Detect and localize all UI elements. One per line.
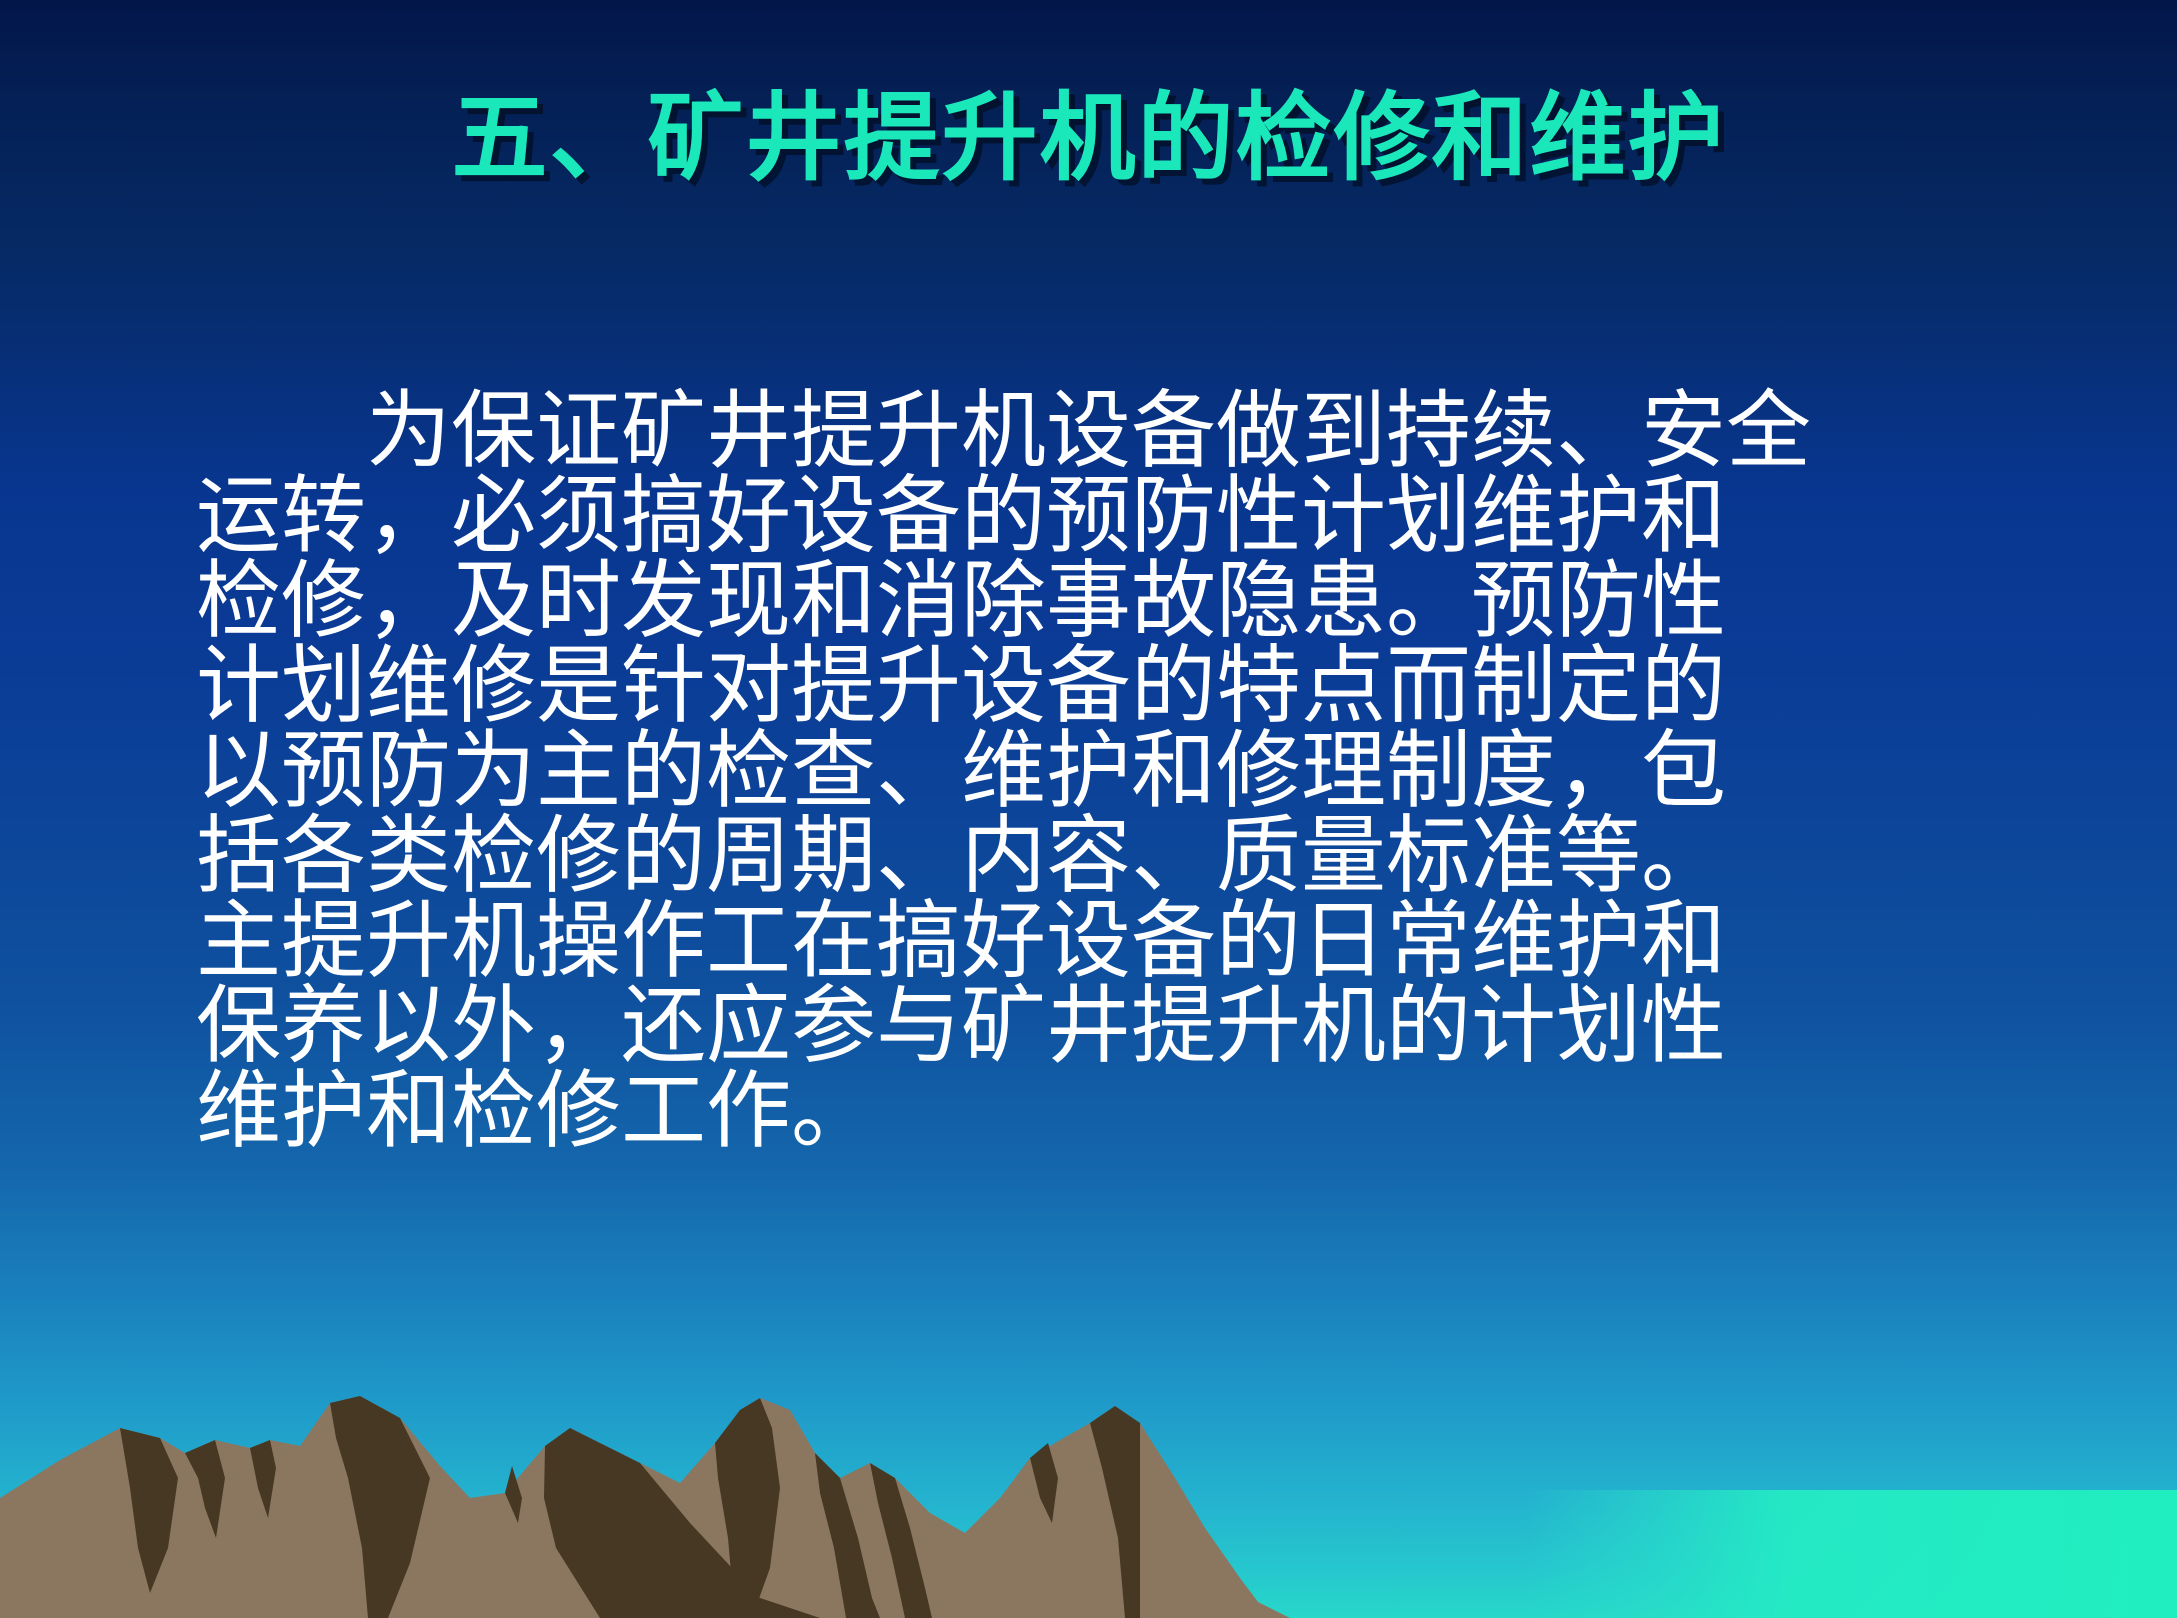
slide-body-text: 为保证矿井提升机设备做到持续、安全 运转，必须搞好设备的预防性计划维护和 检修，… [196,390,2026,1155]
body-line: 计划维修是针对提升设备的特点而制定的 [196,645,2026,730]
body-line: 以预防为主的检查、维护和修理制度，包 [196,730,2026,815]
body-line: 保养以外，还应参与矿井提升机的计划性 [196,985,2026,1070]
presentation-slide: 五、矿井提升机的检修和维护 为保证矿井提升机设备做到持续、安全 运转，必须搞好设… [0,0,2177,1618]
mountain-right-slope [1140,1423,1290,1618]
body-line: 检修，及时发现和消除事故隐患。预防性 [196,560,2026,645]
body-line: 括各类检修的周期、内容、质量标准等。 [196,815,2026,900]
slide-title: 五、矿井提升机的检修和维护 [0,86,2177,192]
body-line: 为保证矿井提升机设备做到持续、安全 [196,390,2026,475]
body-line: 主提升机操作工在搞好设备的日常维护和 [196,900,2026,985]
body-line: 运转，必须搞好设备的预防性计划维护和 [196,475,2026,560]
body-line: 维护和检修工作。 [196,1070,2026,1155]
mountain-silhouette-graphic [0,1348,2177,1618]
